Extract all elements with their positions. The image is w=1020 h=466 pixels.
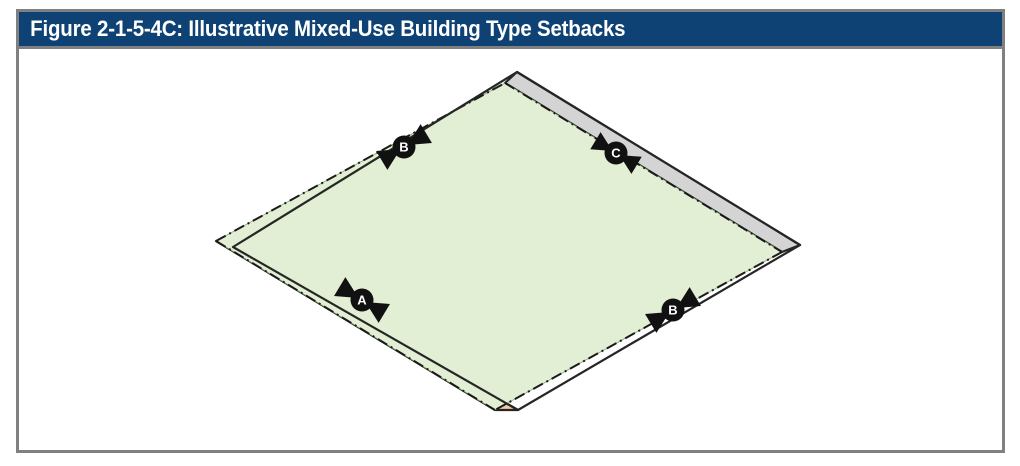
figure-header: Figure 2-1-5-4C: Illustrative Mixed-Use …: [16, 9, 1005, 49]
marker-c-label: C: [611, 146, 621, 161]
figure-body: A B C: [19, 49, 1002, 450]
parcel-setback-diagram: A B C: [19, 49, 1002, 450]
figure-card: Figure 2-1-5-4C: Illustrative Mixed-Use …: [0, 0, 1020, 466]
buildable-area: [216, 83, 782, 410]
page-title: Figure 2-1-5-4C: Illustrative Mixed-Use …: [19, 16, 625, 42]
marker-b-lower-label: B: [668, 303, 677, 318]
marker-a-label: A: [357, 293, 367, 308]
marker-b-upper-label: B: [399, 140, 408, 155]
